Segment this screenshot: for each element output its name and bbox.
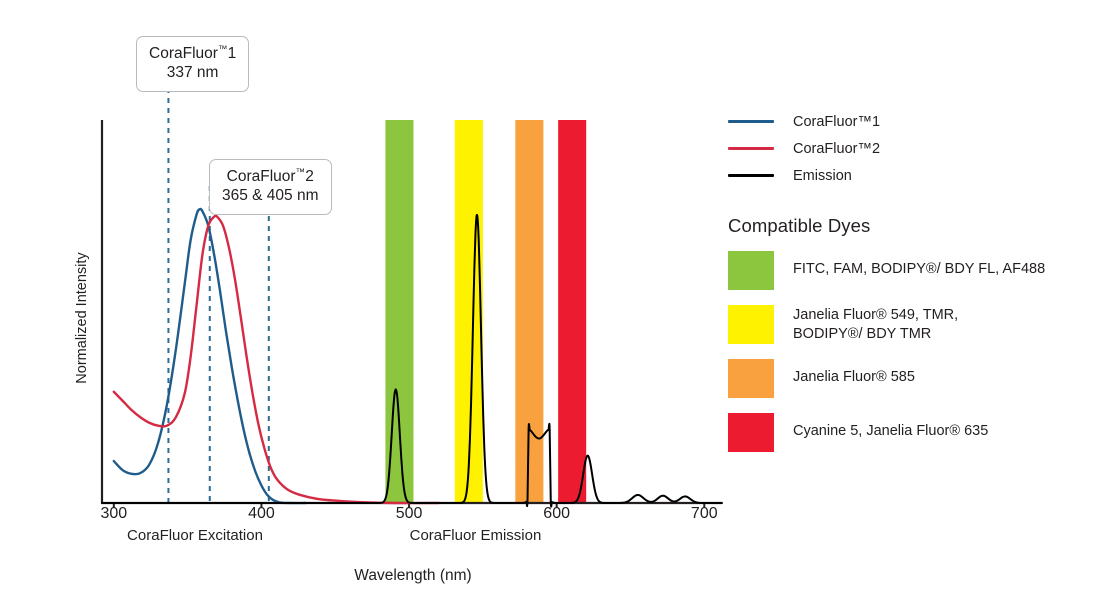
emission-range-label: CoraFluor Emission: [410, 527, 542, 544]
legend-line-swatch: [728, 174, 774, 177]
dye-color-swatch: [728, 305, 774, 344]
emission-bands-group: [385, 120, 586, 503]
legend-panel: CoraFluor™1CoraFluor™2Emission Compatibl…: [728, 108, 1100, 467]
green-band: [385, 120, 413, 503]
legend-line-swatch: [728, 120, 774, 123]
dye-color-swatch: [728, 413, 774, 452]
series-legend: CoraFluor™1CoraFluor™2Emission: [728, 108, 1100, 189]
compatible-dyes-heading: Compatible Dyes: [728, 215, 1100, 237]
x-tick-label-500: 500: [396, 505, 423, 523]
dye-row: Cyanine 5, Janelia Fluor® 635: [728, 413, 1100, 452]
callout-corafluor2: CoraFluor™2 365 & 405 nm: [209, 159, 332, 215]
callout-corafluor1: CoraFluor™1 337 nm: [136, 36, 249, 92]
legend-series-row: CoraFluor™2: [728, 135, 1100, 162]
legend-series-row: Emission: [728, 162, 1100, 189]
dye-row: Janelia Fluor® 585: [728, 359, 1100, 398]
red-band: [558, 120, 586, 503]
dye-row: FITC, FAM, BODIPY®/ BDY FL, AF488: [728, 251, 1100, 290]
trademark-icon: ™: [296, 167, 306, 178]
legend-line-swatch: [728, 147, 774, 150]
x-tick-label-300: 300: [100, 505, 127, 523]
callout-corafluor1-value: 337 nm: [149, 63, 236, 82]
x-tick-label-700: 700: [691, 505, 718, 523]
legend-series-row: CoraFluor™1: [728, 108, 1100, 135]
dye-color-swatch: [728, 251, 774, 290]
compatible-dyes-list: FITC, FAM, BODIPY®/ BDY FL, AF488Janelia…: [728, 251, 1100, 452]
legend-series-label: CoraFluor™2: [793, 141, 880, 157]
fluorescence-spectra-figure: CoraFluor™1 337 nm CoraFluor™2 365 & 405…: [0, 0, 1110, 612]
legend-series-label: CoraFluor™1: [793, 114, 880, 130]
x-tick-label-600: 600: [543, 505, 570, 523]
dye-label: FITC, FAM, BODIPY®/ BDY FL, AF488: [793, 251, 1045, 279]
legend-series-label: Emission: [793, 168, 852, 184]
y-axis-title: Normalized Intensity: [74, 223, 90, 413]
dye-color-swatch: [728, 359, 774, 398]
dye-label: Janelia Fluor® 585: [793, 359, 915, 387]
excitation-range-label: CoraFluor Excitation: [127, 527, 263, 544]
callout-corafluor1-title: CoraFluor™1: [149, 44, 236, 63]
dye-label: Cyanine 5, Janelia Fluor® 635: [793, 413, 988, 441]
x-tick-label-400: 400: [248, 505, 275, 523]
callout-corafluor2-title: CoraFluor™2: [222, 167, 319, 186]
callout-corafluor2-value: 365 & 405 nm: [222, 186, 319, 205]
trademark-icon: ™: [218, 44, 228, 55]
dye-row: Janelia Fluor® 549, TMR,BODIPY®/ BDY TMR: [728, 305, 1100, 344]
x-axis-title: Wavelength (nm): [354, 567, 471, 585]
dye-label: Janelia Fluor® 549, TMR,BODIPY®/ BDY TMR: [793, 305, 958, 344]
